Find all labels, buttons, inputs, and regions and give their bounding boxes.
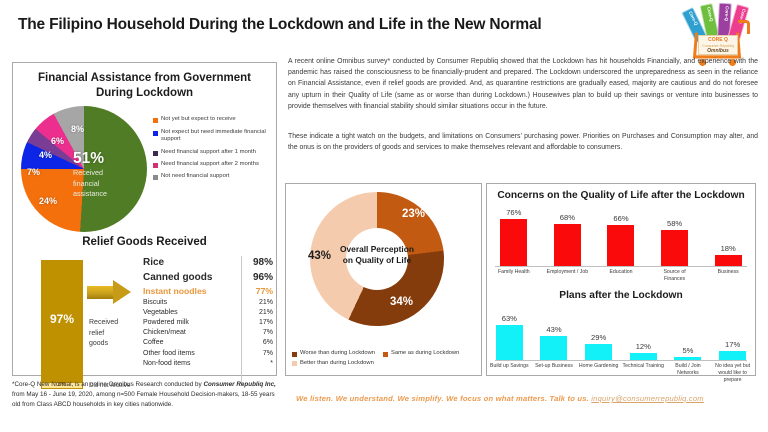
concerns-bar-chart: 76%68%66%58%18% [487, 204, 755, 266]
relief-goods-value: 77% [247, 285, 273, 297]
donut-legend-label: Same as during Lockdown [391, 350, 459, 356]
intro-paragraph-1: A recent online Omnibus survey* conducte… [288, 56, 758, 112]
pie-legend-label: Need financial support after 2 months [161, 161, 259, 168]
footnote-company: Consumer Republiq Inc, [203, 381, 275, 388]
relief-goods-value: 17% [247, 318, 273, 328]
bar-rect [540, 336, 567, 360]
legend-swatch-icon [153, 175, 158, 180]
pie-label-8: 8% [71, 124, 84, 134]
pie-label-24: 24% [39, 196, 57, 206]
bar-value-label: 29% [577, 333, 621, 342]
donut-label-same: 23% [402, 208, 425, 220]
bar-category-label: Build up Savings [487, 363, 531, 384]
bar-column: 68% [545, 213, 589, 266]
bar-rect [607, 225, 634, 266]
bar-column: 58% [653, 219, 697, 266]
bar-column: 5% [666, 346, 710, 360]
relief-goods-value: 7% [247, 349, 273, 359]
donut-legend-item: Same as during Lockdown [383, 350, 459, 357]
bar-rect [500, 219, 527, 266]
relief-received-label: Receivedreliefgoods [89, 318, 118, 348]
bar-column: 17% [711, 340, 755, 361]
bar-column: 63% [487, 314, 531, 360]
relief-goods-value: 21% [247, 298, 273, 308]
pie-chart: 51% Receivedfinancialassistance 24% 7% 4… [13, 104, 276, 232]
pie-legend-label: Need financial support after 1 month [161, 149, 256, 156]
bar-category-label: Family Health [492, 269, 536, 283]
relief-goods-row: Coffee6% [143, 338, 273, 348]
relief-chart-title: Relief Goods Received [13, 236, 276, 248]
pie-label-6: 6% [51, 136, 64, 146]
bar-category-label: Technical Training [621, 363, 665, 384]
relief-goods-row: Instant noodles77% [143, 285, 273, 297]
shopping-cart-icon [738, 20, 750, 34]
bar-value-label: 17% [711, 340, 755, 349]
legend-swatch-icon [153, 118, 158, 123]
pie-legend-item: Need financial support after 1 month [153, 149, 271, 156]
relief-goods-value: 98% [247, 256, 273, 271]
pie-legend-item: Not expect but need immediate financial … [153, 129, 271, 144]
relief-goods-row: Rice98% [143, 256, 273, 271]
legend-swatch-icon [292, 361, 297, 366]
tagline: We listen. We understand. We simplify. W… [296, 394, 704, 403]
logo-brand-plate: CORE Q Consumer Republiq Omnibus [698, 35, 738, 55]
logo-omnibus-text: Omnibus [699, 48, 737, 55]
relief-goods-value: 21% [247, 308, 273, 318]
relief-goods-value: 6% [247, 338, 273, 348]
concerns-chart-title: Concerns on the Quality of Life after th… [487, 190, 755, 201]
relief-goods-value: * [247, 359, 273, 369]
relief-goods-row: Canned goods96% [143, 271, 273, 286]
legend-swatch-icon [292, 352, 297, 357]
bar-value-label: 58% [653, 219, 697, 228]
relief-goods-row: Powdered milk17% [143, 318, 273, 328]
bar-category-label: Employment / Job [545, 269, 589, 283]
bar-category-label: Source of Finances [653, 269, 697, 283]
pie-label-51: 51% [73, 150, 104, 168]
bar-rect [630, 353, 657, 360]
bar-category-label: Set-up Business [532, 363, 576, 384]
relief-goods-row: Non-food items* [143, 359, 273, 369]
panel-financial-assistance: Financial Assistance from Government Dur… [12, 62, 277, 376]
bar-category-label: Build / Join Networks [666, 363, 710, 384]
donut-legend-label: Worse than during Lockdown [300, 350, 375, 356]
bar-category-label: Home Gardening [577, 363, 621, 384]
bar-value-label: 12% [621, 342, 665, 351]
pie-legend-label: Not expect but need immediate financial … [161, 129, 271, 144]
donut-label-better: 43% [308, 250, 331, 262]
legend-swatch-icon [153, 131, 158, 136]
intro-paragraph-2: These indicate a tight watch on the budg… [288, 131, 758, 153]
donut-legend-label: Better than during Lockdown [300, 360, 374, 366]
pie-legend-item: Not yet but expect to receive [153, 116, 271, 123]
legend-swatch-icon [153, 151, 158, 156]
relief-goods-name: Canned goods [143, 271, 212, 286]
relief-goods-name: Instant noodles [143, 285, 207, 297]
bar-value-label: 68% [545, 213, 589, 222]
footnote: *Core-Q New Normal, is an online Omnibus… [12, 380, 284, 410]
bar-column: 66% [599, 214, 643, 266]
bar-column: 12% [621, 342, 665, 360]
relief-goods-list: Rice98%Canned goods96%Instant noodles77%… [143, 256, 273, 368]
donut-legend-item: Worse than during Lockdown [292, 350, 375, 357]
relief-goods-name: Rice [143, 256, 164, 271]
bar-rect [719, 351, 746, 361]
bar-rect [715, 255, 742, 266]
relief-goods-value: 7% [247, 328, 273, 338]
bar-category-label: No idea yet but would like to prepare [711, 363, 755, 384]
footnote-part-a: *Core-Q New Normal, is an online Omnibus… [12, 381, 203, 388]
donut-label-worse: 34% [390, 296, 413, 308]
arrow-right-icon [87, 280, 135, 304]
pie-chart-title: Financial Assistance from Government Dur… [13, 71, 276, 100]
bar-rect [554, 224, 581, 266]
relief-received-value: 97% [41, 312, 83, 326]
relief-goods-value: 96% [247, 271, 273, 286]
bar-value-label: 76% [492, 208, 536, 217]
relief-goods-row: Chicken/meat7% [143, 328, 273, 338]
pie-label-7: 7% [27, 167, 40, 177]
bar-category-label: Education [599, 269, 643, 283]
bar-value-label: 66% [599, 214, 643, 223]
bar-category-label: Business [706, 269, 750, 283]
relief-goods-name: Other food items [143, 349, 195, 359]
pie-legend-label: Not yet but expect to receive [161, 116, 236, 123]
pie-center-sublabel: Receivedfinancialassistance [73, 168, 107, 199]
bar-rect [661, 230, 688, 266]
legend-swatch-icon [153, 163, 158, 168]
plans-chart-title: Plans after the Lockdown [487, 290, 755, 301]
relief-goods-row: Biscuits21% [143, 298, 273, 308]
bar-column: 76% [492, 208, 536, 266]
footnote-part-c: from May 16 - June 19, 2020, among n=500… [12, 391, 275, 408]
tagline-text: We listen. We understand. We simplify. W… [296, 394, 591, 403]
donut-legend: Worse than during LockdownSame as during… [292, 350, 480, 369]
page-title: The Filipino Household During the Lockdo… [18, 16, 542, 34]
bar-rect [496, 325, 523, 360]
bar-rect [585, 344, 612, 360]
plans-category-labels: Build up SavingsSet-up BusinessHome Gard… [487, 361, 755, 384]
panel-overall-perception: Overall Perception on Quality of Life 23… [285, 183, 482, 376]
bar-value-label: 5% [666, 346, 710, 355]
bar-column: 18% [706, 244, 750, 266]
bar-rect [674, 357, 701, 360]
relief-goods-name: Vegetables [143, 308, 178, 318]
pie-legend-item: Not need financial support [153, 173, 271, 180]
legend-swatch-icon [383, 352, 388, 357]
relief-goods-name: Biscuits [143, 298, 167, 308]
donut-chart: Overall Perception on Quality of Life 23… [286, 184, 483, 344]
relief-goods-name: Powdered milk [143, 318, 189, 328]
relief-goods-row: Vegetables21% [143, 308, 273, 318]
concerns-category-labels: Family HealthEmployment / JobEducationSo… [487, 267, 755, 283]
pie-legend-label: Not need financial support [161, 173, 229, 180]
relief-goods-row: Other food items7% [143, 349, 273, 359]
bar-value-label: 63% [487, 314, 531, 323]
donut-center-label: Overall Perception on Quality of Life [328, 244, 426, 267]
relief-goods-name: Chicken/meat [143, 328, 186, 338]
relief-goods-name: Coffee [143, 338, 164, 348]
relief-goods-name: Non-food items [143, 359, 190, 369]
bar-column: 29% [577, 333, 621, 360]
pie-legend: Not yet but expect to receiveNot expect … [153, 116, 271, 185]
email-link[interactable]: inquiry@consumerrepubliq.com [591, 394, 704, 403]
pie-label-4: 4% [39, 150, 52, 160]
plans-bar-chart: 63%43%29%12%5%17% [487, 304, 755, 360]
pie-legend-item: Need financial support after 2 months [153, 161, 271, 168]
donut-legend-item: Better than during Lockdown [292, 360, 374, 367]
bar-value-label: 18% [706, 244, 750, 253]
bar-column: 43% [532, 325, 576, 360]
panel-concerns-and-plans: Concerns on the Quality of Life after th… [486, 183, 756, 376]
bar-value-label: 43% [532, 325, 576, 334]
